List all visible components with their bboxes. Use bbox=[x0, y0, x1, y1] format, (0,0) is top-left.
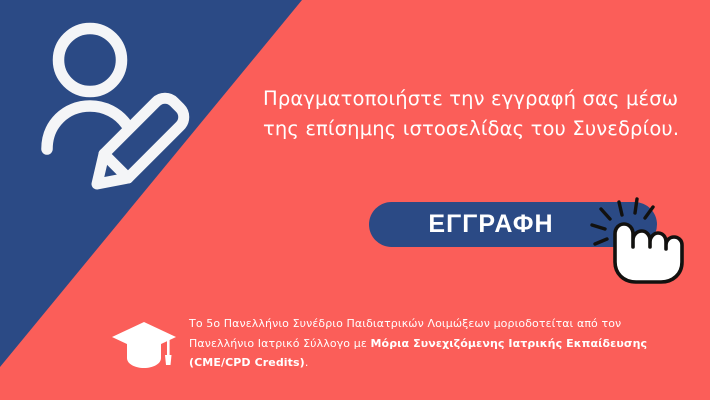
graduation-cap-icon bbox=[110, 318, 178, 374]
cap-top-shape bbox=[112, 322, 176, 352]
accreditation-note: Το 5ο Πανελλήνιο Συνέδριο Παιδιατρικών Λ… bbox=[189, 314, 669, 373]
headline-text: Πραγματοποιήστε την εγγραφή σας μέσω της… bbox=[263, 84, 693, 144]
registration-banner: Πραγματοποιήστε την εγγραφή σας μέσω της… bbox=[0, 0, 710, 400]
accreditation-plain-after: . bbox=[305, 356, 309, 369]
user-edit-icon bbox=[28, 18, 206, 200]
registration-cta-button[interactable]: ΕΓΓΡΑΦΗ bbox=[369, 202, 657, 247]
tassel-shape bbox=[165, 355, 172, 365]
pencil-tip-line bbox=[104, 154, 128, 178]
user-head-shape bbox=[59, 29, 122, 92]
registration-cta-label: ΕΓΓΡΑΦΗ bbox=[428, 212, 553, 237]
tassel-cord-shape bbox=[167, 339, 170, 356]
